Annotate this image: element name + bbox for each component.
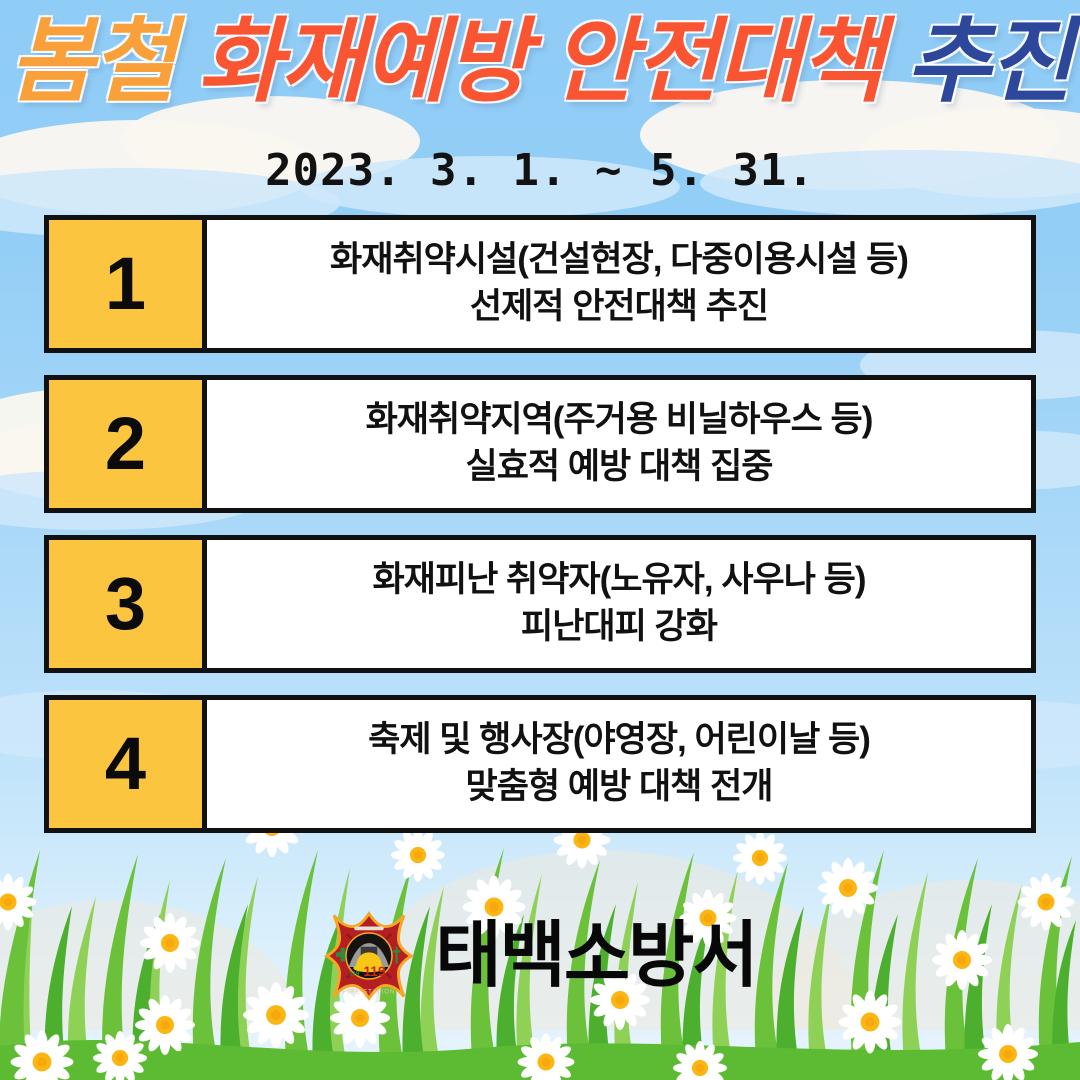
measure-number-badge: 4 bbox=[49, 700, 207, 828]
measure-line-1: 화재취약시설(건설현장, 다중이용시설 등) bbox=[330, 237, 908, 284]
title-segment-action: 추진 bbox=[906, 11, 1071, 113]
measure-row-2: 2 화재취약지역(주거용 비닐하우스 등) 실효적 예방 대책 집중 bbox=[44, 375, 1036, 513]
measure-row-4: 4 축제 및 행사장(야영장, 어린이날 등) 맞춤형 예방 대책 전개 bbox=[44, 695, 1036, 833]
emblem-caption-text: FIRE STATION bbox=[343, 990, 395, 996]
measures-list: 1 화재취약시설(건설현장, 다중이용시설 등) 선제적 안전대책 추진 2 화… bbox=[44, 215, 1036, 855]
spring-fire-prevention-poster: 봄철 화재예방 안전대책 추진 2023. 3. 1. ~ 5. 31. 1 화… bbox=[0, 0, 1080, 1080]
poster-title: 봄철 화재예방 안전대책 추진 bbox=[0, 14, 1080, 111]
emblem-119-text: 119 bbox=[364, 964, 387, 979]
measure-text-block: 화재취약지역(주거용 비닐하우스 등) 실효적 예방 대책 집중 bbox=[207, 380, 1031, 508]
measure-number-badge: 3 bbox=[49, 540, 207, 668]
measure-row-1: 1 화재취약시설(건설현장, 다중이용시설 등) 선제적 안전대책 추진 bbox=[44, 215, 1036, 353]
title-segment-season: 봄철 bbox=[9, 11, 174, 113]
measure-text-block: 화재취약시설(건설현장, 다중이용시설 등) 선제적 안전대책 추진 bbox=[207, 220, 1031, 348]
fire-station-emblem-icon: 119 119 FIRE STATION bbox=[323, 910, 415, 1002]
measure-line-2: 선제적 안전대책 추진 bbox=[470, 284, 768, 331]
measure-line-1: 화재취약지역(주거용 비닐하우스 등) bbox=[366, 397, 873, 444]
organization-name: 태백소방서 bbox=[435, 920, 756, 992]
svg-text:119: 119 bbox=[349, 970, 360, 977]
measure-line-2: 실효적 예방 대책 집중 bbox=[466, 444, 773, 491]
measure-line-1: 화재피난 취약자(노유자, 사우나 등) bbox=[372, 557, 865, 604]
measure-row-3: 3 화재피난 취약자(노유자, 사우나 등) 피난대피 강화 bbox=[44, 535, 1036, 673]
measure-line-2: 피난대피 강화 bbox=[521, 604, 717, 651]
measure-number-badge: 2 bbox=[49, 380, 207, 508]
title-segment-main: 화재예방 안전대책 bbox=[198, 11, 883, 113]
measure-line-2: 맞춤형 예방 대책 전개 bbox=[466, 764, 773, 811]
measure-text-block: 축제 및 행사장(야영장, 어린이날 등) 맞춤형 예방 대책 전개 bbox=[207, 700, 1031, 828]
footer-branding: 119 119 FIRE STATION 태백소방서 bbox=[0, 910, 1080, 1002]
measure-line-1: 축제 및 행사장(야영장, 어린이날 등) bbox=[368, 717, 870, 764]
measure-number-badge: 1 bbox=[49, 220, 207, 348]
campaign-date-range: 2023. 3. 1. ~ 5. 31. bbox=[0, 145, 1080, 196]
measure-text-block: 화재피난 취약자(노유자, 사우나 등) 피난대피 강화 bbox=[207, 540, 1031, 668]
